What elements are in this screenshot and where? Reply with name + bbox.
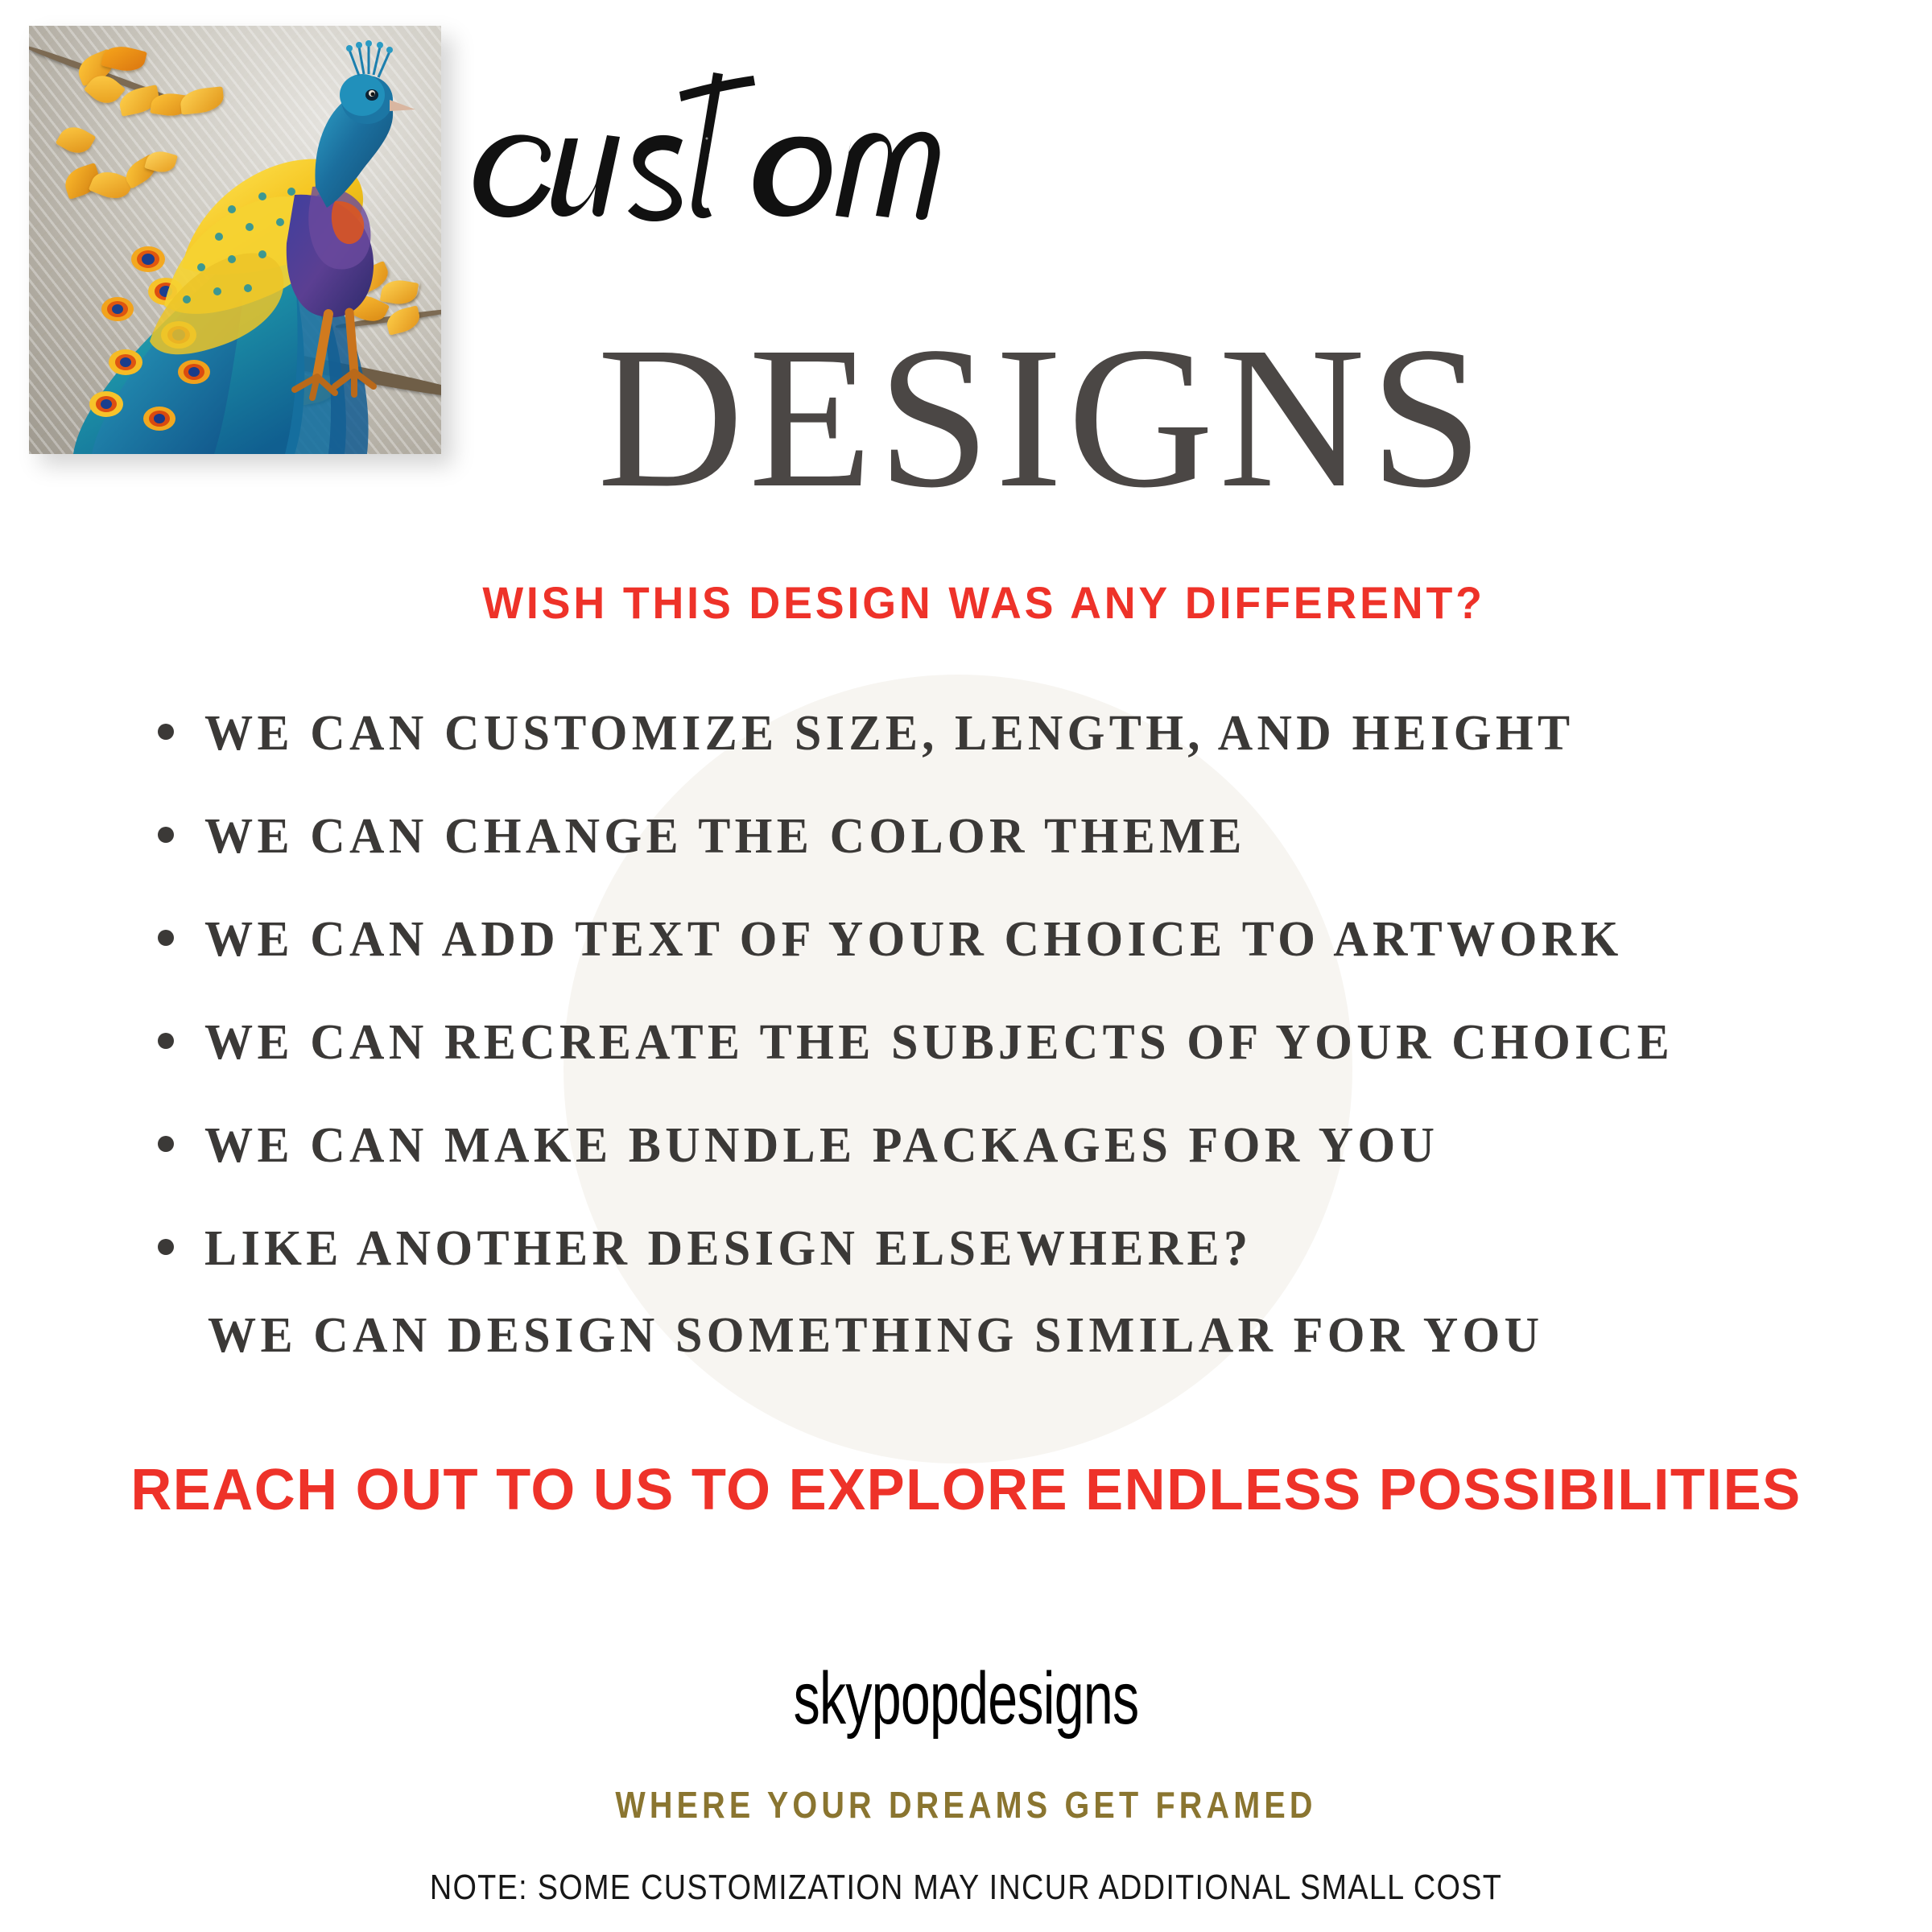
list-item-label: WE CAN CHANGE THE COLOR THEME: [204, 808, 1246, 865]
disclaimer-note: NOTE: SOME CUSTOMIZATION MAY INCUR ADDIT…: [135, 1868, 1797, 1908]
bullet-dot-icon: [158, 1239, 174, 1255]
script-word-custom: [451, 42, 1336, 227]
artwork-canvas: [29, 26, 441, 454]
list-item: WE CAN ADD TEXT OF YOUR CHOICE TO ARTWOR…: [158, 911, 1800, 1014]
list-item-label: WE CAN ADD TEXT OF YOUR CHOICE TO ARTWOR…: [204, 911, 1623, 968]
bullet-dot-icon: [158, 827, 174, 843]
list-item-label: WE CAN CUSTOMIZE SIZE, LENGTH, AND HEIGH…: [204, 705, 1574, 762]
bullet-dot-icon: [158, 930, 174, 946]
list-item: WE CAN CUSTOMIZE SIZE, LENGTH, AND HEIGH…: [158, 705, 1800, 808]
list-item-label: WE CAN MAKE BUNDLE PACKAGES FOR YOU: [204, 1117, 1439, 1174]
subtitle-question: WISH THIS DESIGN WAS ANY DIFFERENT?: [39, 576, 1893, 629]
brand-tagline: WHERE YOUR DREAMS GET FRAMED: [135, 1783, 1797, 1827]
call-to-action-text: REACH OUT TO US TO EXPLORE ENDLESS POSSI…: [19, 1457, 1913, 1523]
features-list: WE CAN CUSTOMIZE SIZE, LENGTH, AND HEIGH…: [158, 705, 1800, 1323]
bullet-dot-icon: [158, 1136, 174, 1152]
list-item-continuation: WE CAN DESIGN SOMETHING SIMILAR FOR YOU: [208, 1307, 1543, 1364]
artwork-thumbnail: [29, 26, 441, 454]
list-item-label: LIKE ANOTHER DESIGN ELSEWHERE?: [204, 1220, 1252, 1278]
brand-name: skypopdesigns: [270, 1657, 1662, 1741]
list-item-label: WE CAN RECREATE THE SUBJECTS OF YOUR CHO…: [204, 1014, 1674, 1071]
bullet-dot-icon: [158, 724, 174, 740]
list-item: WE CAN MAKE BUNDLE PACKAGES FOR YOU: [158, 1117, 1800, 1220]
bullet-dot-icon: [158, 1033, 174, 1049]
custom-brush-lettering: [451, 42, 1336, 227]
list-item: WE CAN RECREATE THE SUBJECTS OF YOUR CHO…: [158, 1014, 1800, 1117]
list-item: WE CAN CHANGE THE COLOR THEME: [158, 808, 1800, 911]
peacock-illustration: [29, 26, 441, 454]
